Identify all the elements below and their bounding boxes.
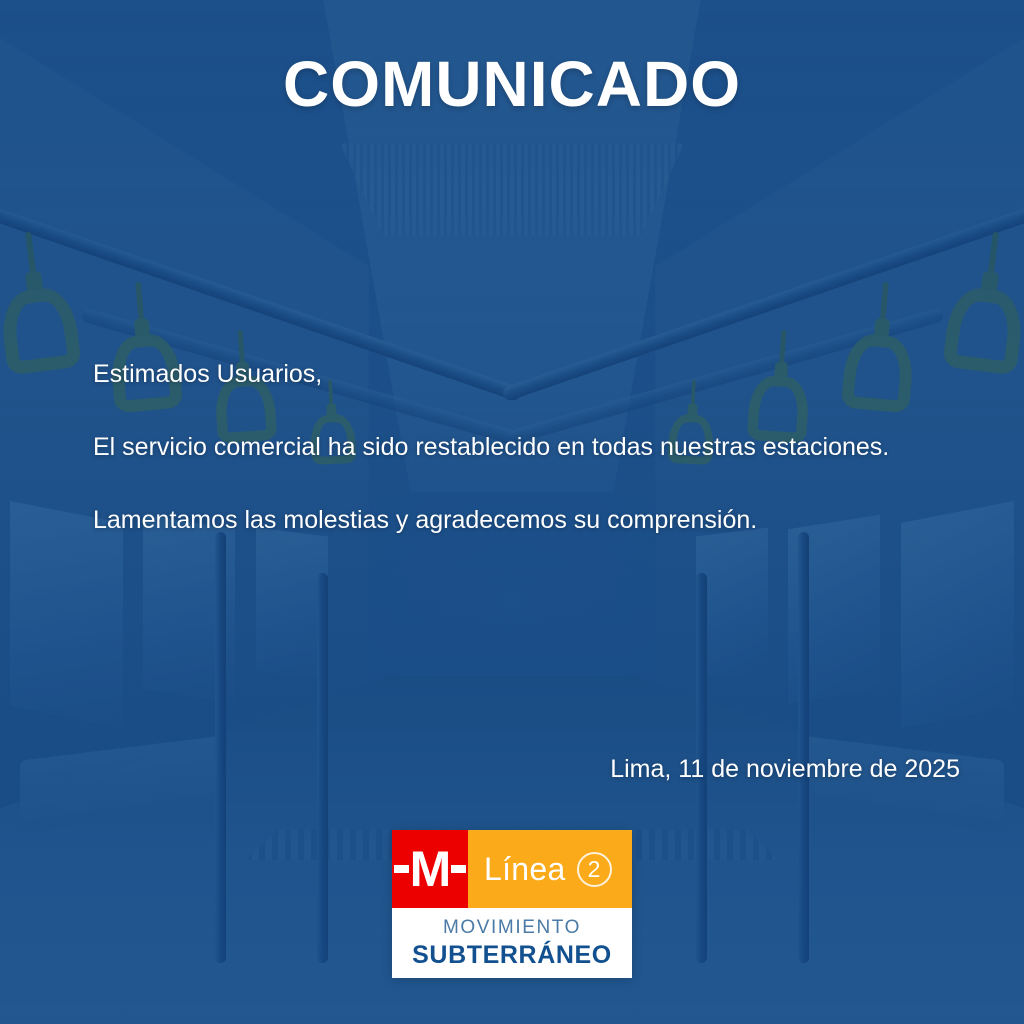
message-line-2: Lamentamos las molestias y agradecemos s… [93, 504, 964, 537]
logo-tagline-block: MOVIMIENTO SUBTERRÁNEO [392, 908, 632, 978]
logo-line-number-circle: 2 [577, 852, 612, 887]
message-greeting: Estimados Usuarios, [93, 358, 964, 391]
dash-right-icon [451, 865, 466, 873]
dash-left-icon [394, 865, 409, 873]
page-title: COMUNICADO [0, 47, 1024, 121]
logo-tagline-bottom: SUBTERRÁNEO [412, 941, 612, 970]
place-and-date: Lima, 11 de noviembre de 2025 [610, 755, 960, 784]
message-line-1: El servicio comercial ha sido restableci… [93, 431, 964, 464]
logo-top-row: M Línea 2 [392, 830, 632, 908]
logo-tagline-top: MOVIMIENTO [443, 917, 581, 939]
message-body: Estimados Usuarios, El servicio comercia… [93, 358, 964, 537]
metro-linea-2-logo: M Línea 2 MOVIMIENTO SUBTERRÁNEO [392, 830, 632, 978]
poster-content: COMUNICADO Estimados Usuarios, El servic… [0, 0, 1024, 1024]
logo-line-label: Línea [484, 851, 566, 888]
metro-m-letter: M [410, 844, 451, 894]
metro-m-badge: M [392, 830, 468, 908]
comunicado-poster: COMUNICADO Estimados Usuarios, El servic… [0, 0, 1024, 1024]
logo-line-banner: Línea 2 [468, 830, 632, 908]
